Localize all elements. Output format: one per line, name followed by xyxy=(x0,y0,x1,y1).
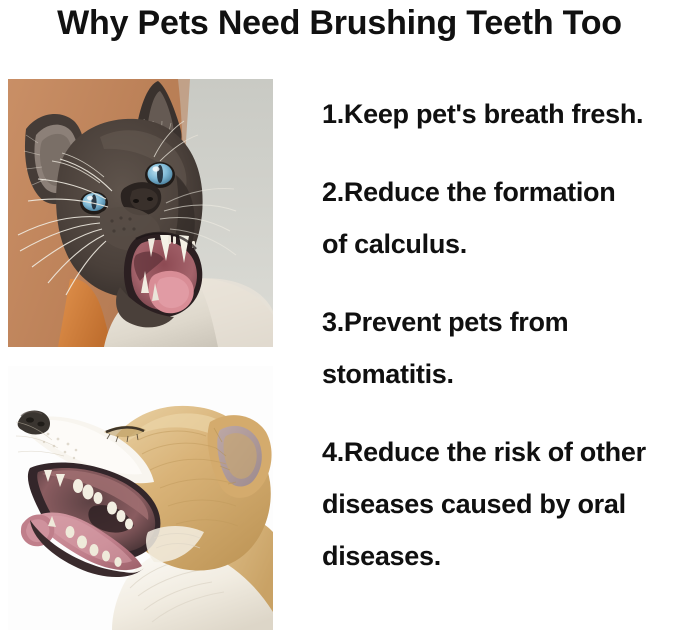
benefit-item-4: 4.Reduce the risk of other diseases caus… xyxy=(322,426,674,582)
page-title: Why Pets Need Brushing Teeth Too xyxy=(0,2,679,44)
benefit-item-3: 3.Prevent pets from stomatitis. xyxy=(322,296,674,400)
benefit-line: diseases caused by oral xyxy=(322,478,674,530)
benefit-item-2: 2.Reduce the formation of calculus. xyxy=(322,166,674,270)
cat-photo xyxy=(8,79,273,347)
benefit-line: stomatitis. xyxy=(322,348,674,400)
benefits-list: 1.Keep pet's breath fresh. 2.Reduce the … xyxy=(322,88,674,582)
dog-photo-image xyxy=(8,366,273,630)
benefit-line: 4.Reduce the risk of other xyxy=(322,426,674,478)
cat-photo-image xyxy=(8,79,273,347)
benefit-line: 3.Prevent pets from xyxy=(322,296,674,348)
benefit-item-1: 1.Keep pet's breath fresh. xyxy=(322,88,674,140)
dog-photo xyxy=(8,366,273,630)
benefit-line: diseases. xyxy=(322,530,674,582)
benefit-line: 1.Keep pet's breath fresh. xyxy=(322,88,674,140)
benefit-line: 2.Reduce the formation xyxy=(322,166,674,218)
benefit-line: of calculus. xyxy=(322,218,674,270)
